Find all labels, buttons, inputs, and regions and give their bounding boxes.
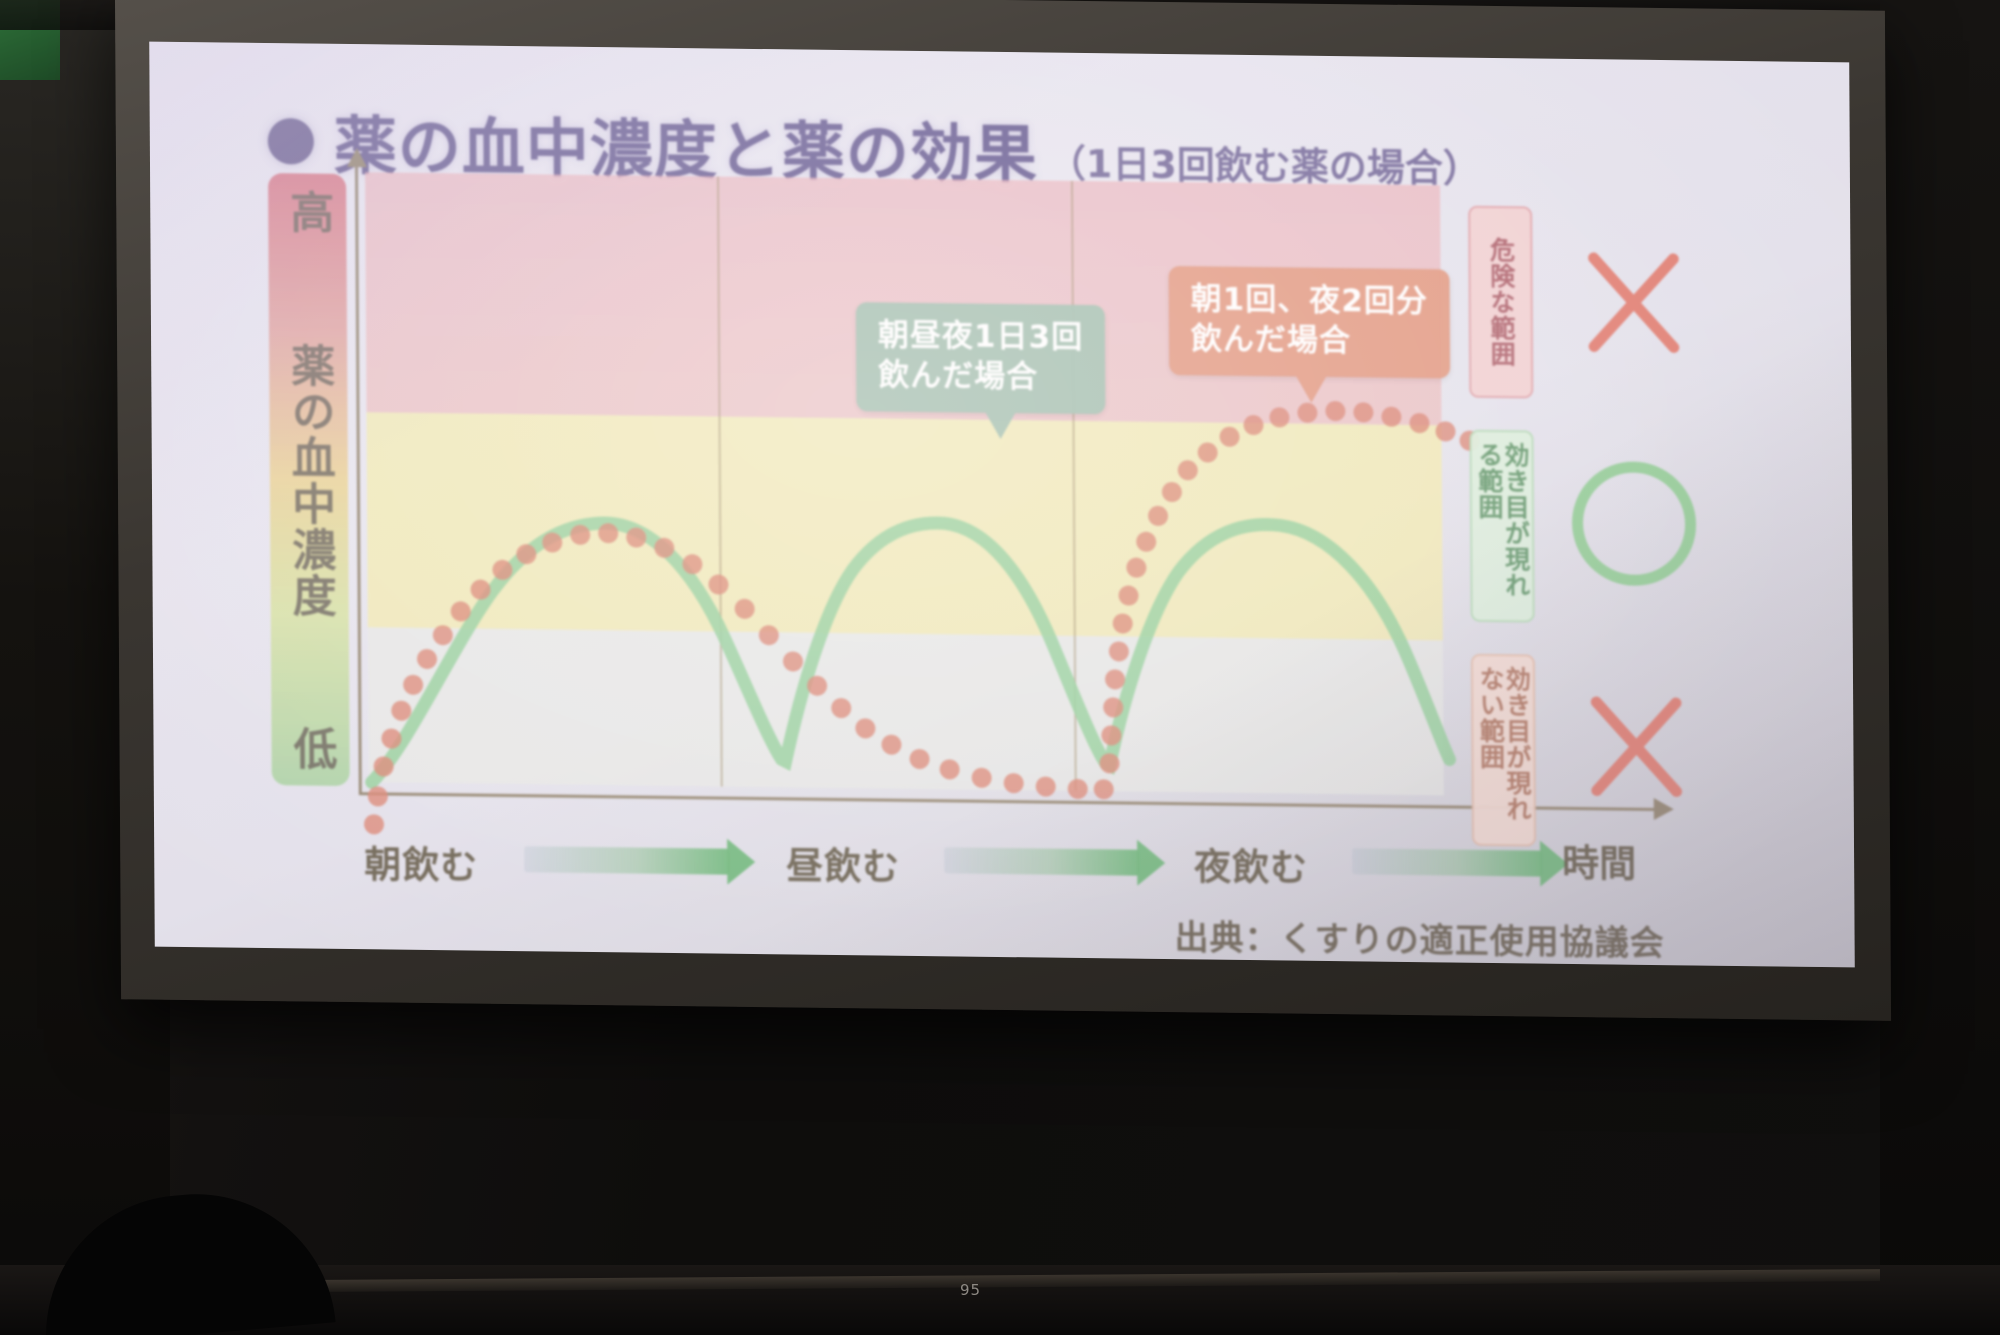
- dose-arrow-night: [1352, 848, 1542, 876]
- dose-label-morning: 朝飲む: [364, 834, 478, 889]
- range-label-ineffective: 効き目が現れない範囲: [1471, 654, 1536, 847]
- callout-green-line2: 飲んだ場合: [878, 356, 1083, 398]
- callout-red-tail: [1295, 375, 1327, 403]
- slide-page-number: 95: [960, 1281, 981, 1299]
- cross-mark-danger-icon: [1568, 237, 1699, 369]
- curve-once-morning-twice-night: [361, 389, 1482, 848]
- dose-arrow-noon: [944, 847, 1139, 875]
- wall-right-panel: [1880, 0, 2000, 1335]
- callout-red-line2: 飲んだ場合: [1191, 320, 1428, 363]
- dose-label-night: 夜飲む: [1194, 836, 1308, 891]
- cross-mark-ineffective-icon: [1571, 681, 1702, 813]
- callout-green-line1: 朝昼夜1日3回: [878, 316, 1083, 358]
- circle-mark-effective-icon: [1572, 461, 1697, 587]
- dose-arrow-morning: [524, 846, 729, 875]
- range-label-danger: 危険な範囲: [1468, 206, 1533, 399]
- x-axis-title: 時間: [1562, 833, 1636, 888]
- callout-red-line1: 朝1回、夜2回分: [1191, 280, 1428, 323]
- source-credit: 出典：くすりの適正使用協議会: [1174, 910, 1664, 965]
- range-label-effective: 効き目が現れる範囲: [1469, 430, 1534, 623]
- dose-label-noon: 昼飲む: [786, 835, 900, 890]
- callout-green-tail: [984, 411, 1016, 439]
- presentation-slide: 薬の血中濃度と薬の効果 （1日3回飲む薬の場合） 高 薬の血中濃度 低: [149, 42, 1854, 968]
- callout-once-twice: 朝1回、夜2回分 飲んだ場合: [1169, 266, 1451, 379]
- projection-screen-surface: 薬の血中濃度と薬の効果 （1日3回飲む薬の場合） 高 薬の血中濃度 低: [149, 42, 1854, 968]
- callout-three-times-daily: 朝昼夜1日3回 飲んだ場合: [856, 302, 1106, 414]
